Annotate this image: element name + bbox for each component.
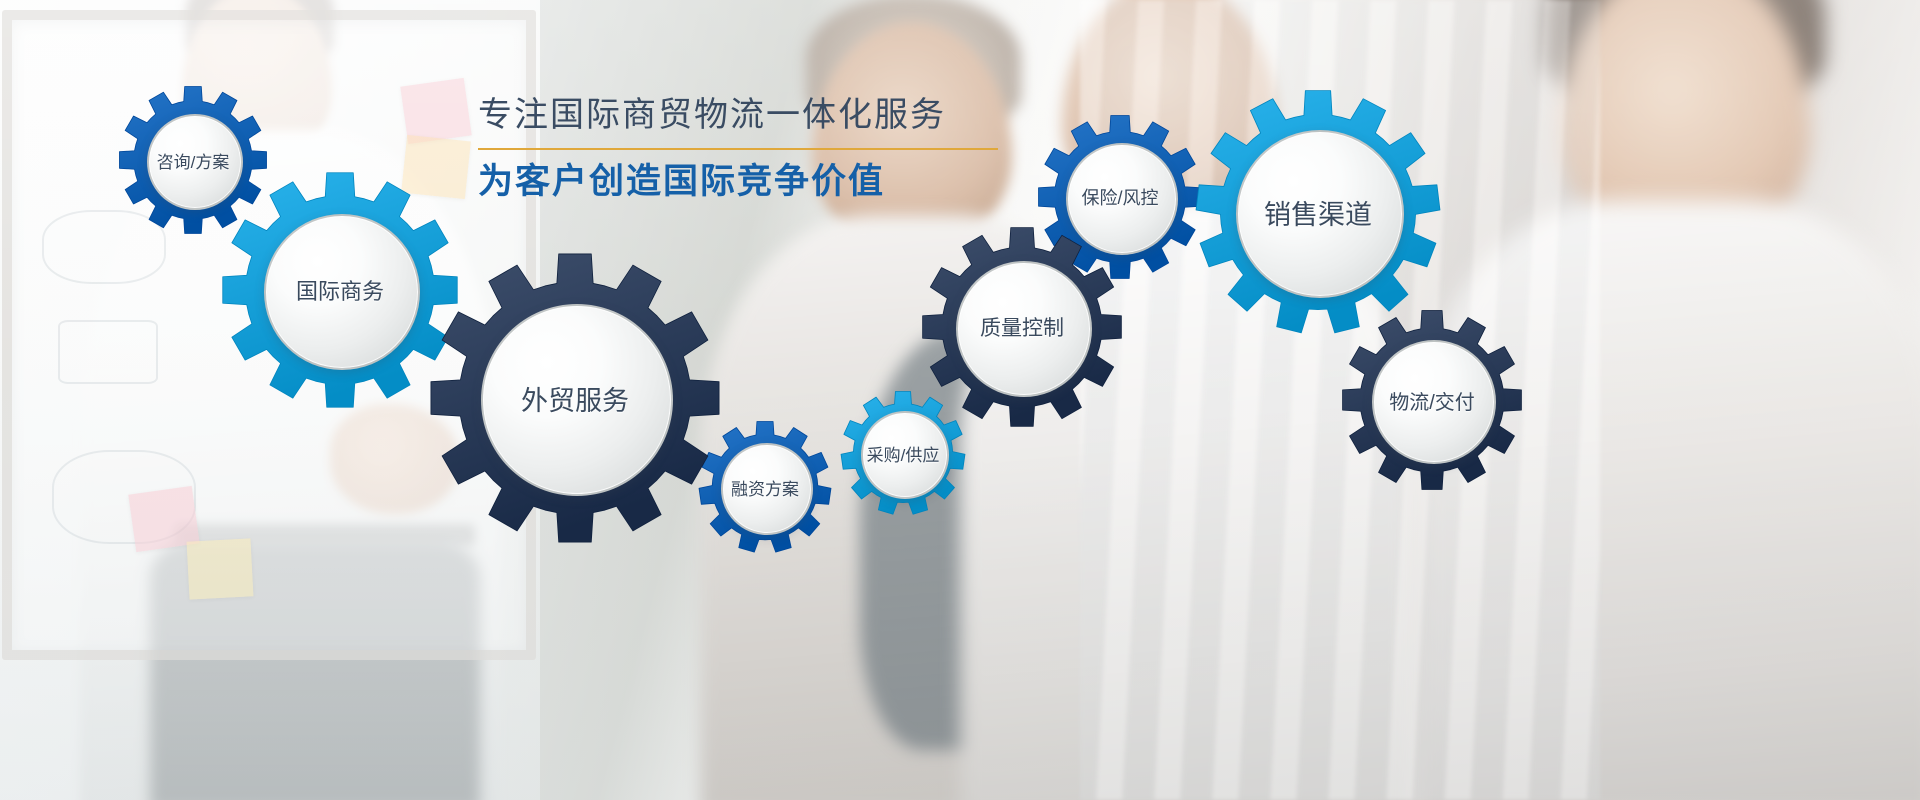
headline-primary: 专注国际商贸物流一体化服务 — [478, 92, 1018, 138]
gear-label-international-business: 国际商务 — [296, 274, 384, 306]
gear-label-quality-control: 质量控制 — [980, 312, 1064, 342]
banner-stage: 专注国际商贸物流一体化服务 为客户创造国际竞争价值 咨询/方案国际商务外贸服务融… — [0, 0, 1920, 800]
gear-label-financing-plan: 融资方案 — [731, 475, 799, 500]
gear-sales-channel[interactable]: 销售渠道 — [1190, 84, 1446, 340]
headline-divider — [478, 148, 998, 150]
gear-label-foreign-trade-service: 外贸服务 — [521, 379, 629, 418]
gear-quality-control[interactable]: 质量控制 — [916, 221, 1128, 433]
gear-foreign-trade-service[interactable]: 外贸服务 — [424, 247, 726, 549]
gear-label-sourcing-supply: 采购/供应 — [867, 441, 940, 466]
gear-label-insurance-risk: 保险/风控 — [1081, 184, 1158, 210]
gear-label-sales-channel: 销售渠道 — [1264, 193, 1372, 232]
headline-secondary: 为客户创造国际竞争价值 — [478, 158, 1018, 206]
headline-block: 专注国际商贸物流一体化服务 为客户创造国际竞争价值 — [478, 92, 1018, 206]
gear-label-logistics-delivery: 物流/交付 — [1389, 386, 1475, 415]
